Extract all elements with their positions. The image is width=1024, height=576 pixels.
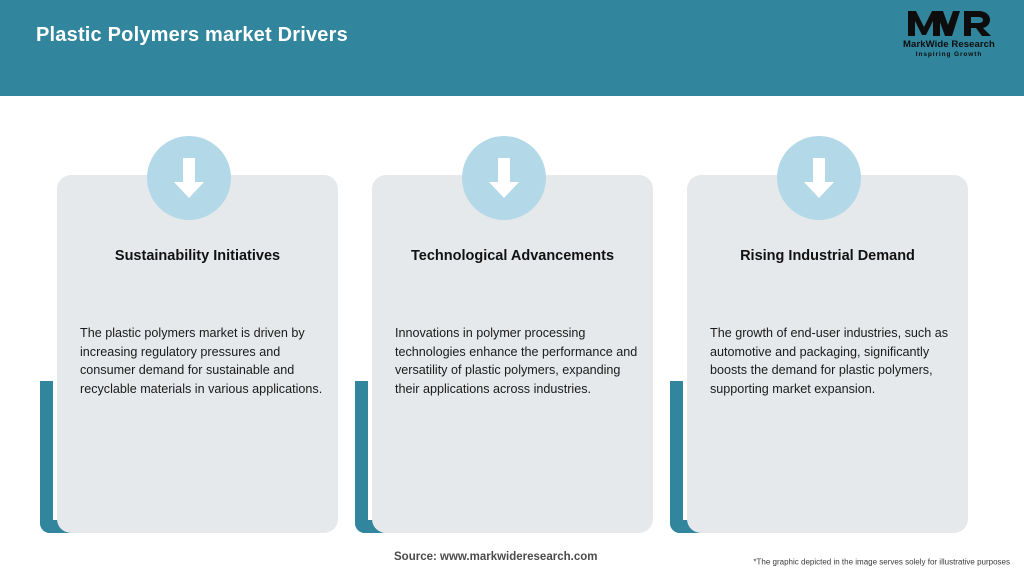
arrow-down-icon [777, 136, 861, 220]
logo-company-name: MarkWide Research [890, 39, 1008, 50]
card-title: Sustainability Initiatives [57, 248, 338, 264]
mwr-logo-icon [890, 8, 1008, 38]
card-body-text: The plastic polymers market is driven by… [80, 324, 328, 398]
arrow-down-icon [147, 136, 231, 220]
brand-logo: MarkWide Research Inspiring Growth [890, 8, 1008, 64]
logo-tagline: Inspiring Growth [890, 51, 1008, 58]
driver-card-3: Rising Industrial Demand The growth of e… [670, 96, 952, 536]
card-title: Technological Advancements [372, 248, 653, 264]
drivers-card-row: Sustainability Initiatives The plastic p… [0, 96, 1024, 536]
card-body-text: Innovations in polymer processing techno… [395, 324, 643, 398]
card-body-text: The growth of end-user industries, such … [710, 324, 958, 398]
page-title: Plastic Polymers market Drivers [36, 24, 348, 47]
disclaimer-note: *The graphic depicted in the image serve… [753, 558, 1010, 567]
card-title: Rising Industrial Demand [687, 248, 968, 264]
header-band: Plastic Polymers market Drivers MarkWide… [0, 0, 1024, 96]
driver-card-1: Sustainability Initiatives The plastic p… [40, 96, 322, 536]
driver-card-2: Technological Advancements Innovations i… [355, 96, 637, 536]
source-label: Source: www.markwideresearch.com [394, 551, 597, 563]
arrow-down-icon [462, 136, 546, 220]
